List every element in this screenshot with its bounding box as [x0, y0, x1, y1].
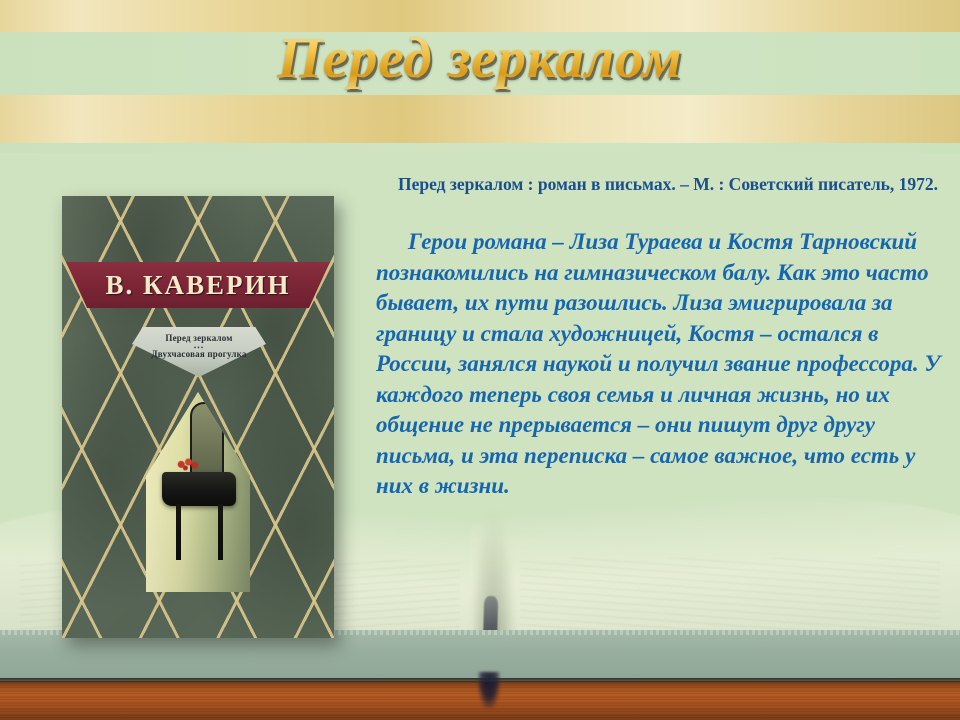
annotation-text: Герои романа – Лиза Тураева и Костя Тарн…	[376, 227, 948, 502]
table-leg-right	[218, 504, 223, 560]
page-title: Перед зеркалом	[0, 26, 960, 92]
table-leg-left	[176, 504, 181, 560]
bibliographic-reference: Перед зеркалом : роман в письмах. – М. :…	[376, 172, 948, 197]
text-column: Перед зеркалом : роман в письмах. – М. :…	[376, 172, 948, 502]
dressing-table	[162, 472, 236, 506]
header-band-gold-bottom	[0, 95, 960, 143]
book-cover-image: В. КАВЕРИН Перед зеркалом ••• Двухчасова…	[62, 196, 334, 638]
header-band-green-thin	[0, 143, 960, 153]
slide: Перед зеркалом В. КАВЕРИН Перед зеркалом…	[0, 0, 960, 720]
bookmark-tassel	[478, 672, 500, 708]
cover-title-line-1: Перед зеркалом	[132, 333, 266, 343]
cover-author-name: В. КАВЕРИН	[66, 262, 330, 308]
cover-title-line-2: Двухчасовая прогулка	[132, 349, 266, 359]
